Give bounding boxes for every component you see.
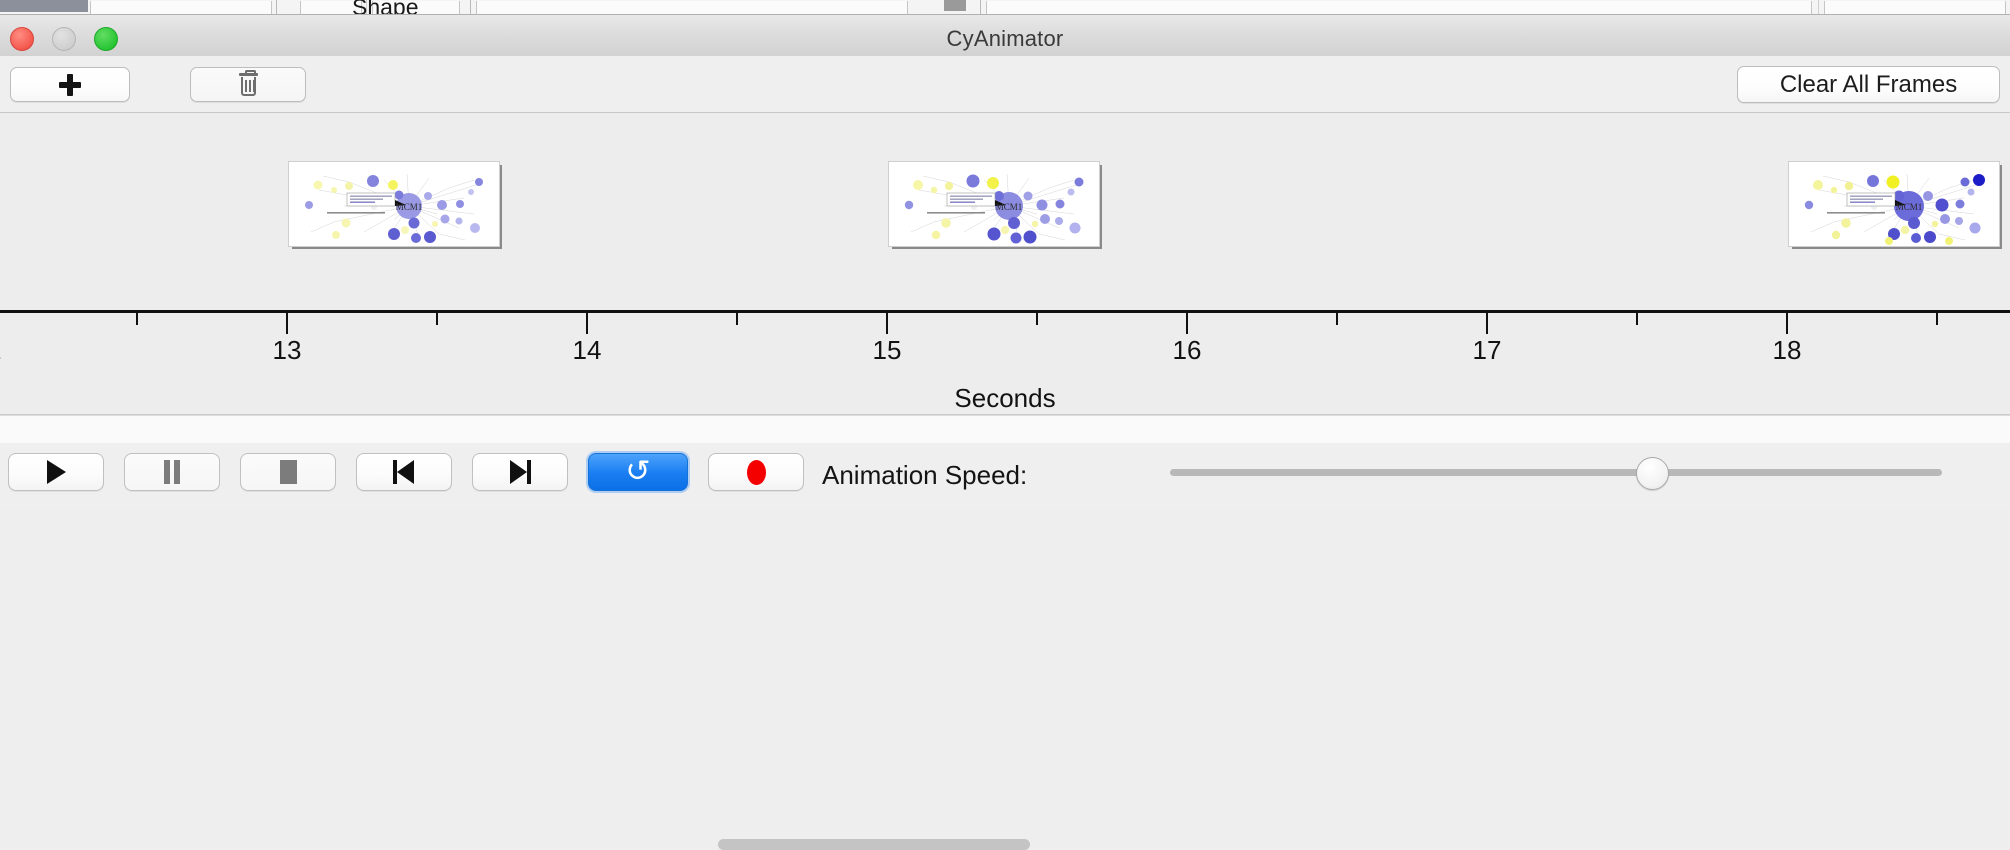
background-swatch — [944, 0, 966, 11]
animation-speed-slider[interactable] — [1170, 469, 1942, 476]
background-window-label: Shape — [352, 0, 419, 15]
background-divider-3 — [470, 0, 471, 15]
titlebar: CyAnimator — [0, 15, 2010, 57]
playback-controls: ↺ Animation Speed: — [0, 443, 2010, 510]
animation-speed-label: Animation Speed: — [822, 460, 1027, 491]
add-frame-button[interactable] — [10, 67, 130, 102]
skip-forward-icon — [509, 460, 531, 484]
timeline-tick-label: 16 — [1173, 335, 1202, 366]
timeline-tick-label: 15 — [873, 335, 902, 366]
frame-toolbar: Clear All Frames — [0, 56, 2010, 113]
background-field-1 — [90, 1, 272, 14]
timeline-tick-label: 17 — [1473, 335, 1502, 366]
timeline-tick-label: 13 — [273, 335, 302, 366]
play-icon — [47, 460, 66, 484]
timeline-tick-label: 12 — [0, 335, 1, 366]
keyframe-thumbnail-2[interactable]: MCM1 — [888, 161, 1102, 249]
timeline-tick-major — [1486, 313, 1488, 334]
timeline-axis-line — [0, 310, 2010, 313]
timeline-tick-major — [586, 313, 588, 334]
timeline-tick-label: 14 — [573, 335, 602, 366]
thumbnail-image: MCM1 — [888, 161, 1100, 247]
timeline-tick-minor — [1636, 313, 1638, 325]
next-frame-button[interactable] — [472, 453, 568, 491]
svg-text:MCM1: MCM1 — [996, 202, 1023, 212]
play-button[interactable] — [8, 453, 104, 491]
timeline-tick-major — [1186, 313, 1188, 334]
thumbnail-image: MCM1 — [288, 161, 500, 247]
delete-frame-button[interactable] — [190, 67, 306, 102]
timeline-tick-major — [286, 313, 288, 334]
stop-icon — [280, 460, 297, 484]
plus-icon — [59, 74, 81, 96]
loop-button[interactable]: ↺ — [588, 453, 688, 491]
animation-speed-slider-thumb[interactable] — [1636, 457, 1669, 490]
timeline-tick-minor — [436, 313, 438, 325]
pause-icon — [163, 460, 181, 484]
clear-all-frames-button[interactable]: Clear All Frames — [1737, 66, 2000, 103]
loop-icon: ↺ — [625, 458, 650, 486]
timeline-tick-label: 18 — [1773, 335, 1802, 366]
timeline-tick-minor — [736, 313, 738, 325]
timeline-tick-minor — [1336, 313, 1338, 325]
network-preview: MCM1 — [289, 162, 499, 246]
pause-button[interactable] — [124, 453, 220, 491]
trash-icon — [239, 73, 258, 96]
record-button[interactable] — [708, 453, 804, 491]
cyanimator-window: Shape CyAnimator Clear All Frames — [0, 0, 2010, 510]
network-preview: MCM1 — [889, 162, 1099, 246]
timeline-tick-minor — [1936, 313, 1938, 325]
timeline-axis-title: Seconds — [0, 383, 2010, 414]
background-divider-1 — [276, 0, 277, 15]
background-field-4 — [476, 1, 908, 14]
svg-text:MCM1: MCM1 — [396, 202, 423, 212]
background-window-titlebar — [0, 0, 88, 12]
timeline-tick-minor — [1036, 313, 1038, 325]
previous-frame-button[interactable] — [356, 453, 452, 491]
network-preview: MCM1 — [1789, 162, 1999, 246]
background-field-5 — [986, 1, 1812, 14]
stop-button[interactable] — [240, 453, 336, 491]
background-window-strip: Shape — [0, 0, 2010, 15]
timeline-tick-major — [1786, 313, 1788, 334]
thumbnail-image: MCM1 — [1788, 161, 2000, 247]
timeline-tick-major — [886, 313, 888, 334]
svg-text:MCM1: MCM1 — [1896, 202, 1923, 212]
background-divider-5 — [1818, 0, 1819, 15]
timeline-tick-minor — [136, 313, 138, 325]
background-divider-4 — [980, 0, 981, 15]
skip-back-icon — [393, 460, 415, 484]
timeline-panel[interactable]: MCM1 — [0, 113, 2010, 415]
record-icon — [747, 460, 766, 485]
window-title: CyAnimator — [0, 26, 2010, 52]
keyframe-thumbnail-3[interactable]: MCM1 — [1788, 161, 2002, 249]
clear-all-frames-label: Clear All Frames — [1780, 71, 1957, 99]
timeline-scrollbar-thumb[interactable] — [718, 839, 1030, 850]
timeline-scrollbar-track[interactable] — [0, 415, 2010, 444]
background-field-6 — [1824, 1, 2006, 14]
keyframe-thumbnail-1[interactable]: MCM1 — [288, 161, 502, 249]
